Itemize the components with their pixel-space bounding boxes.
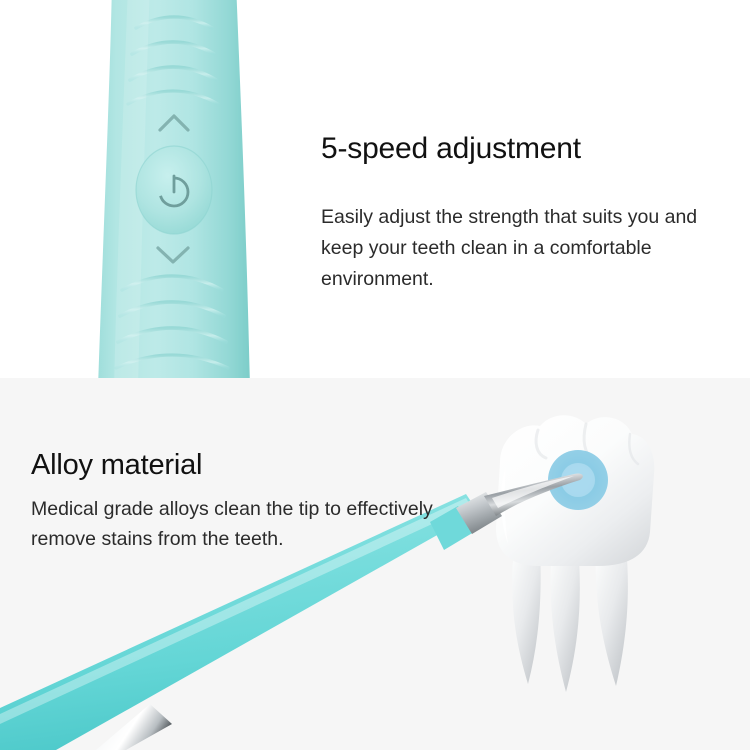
dental-scaler-handle	[84, 0, 264, 378]
product-feature-page: 5-speed adjustment Easily adjust the str…	[0, 0, 750, 750]
panel-speed-adjustment: 5-speed adjustment Easily adjust the str…	[0, 0, 750, 378]
description-speed: Easily adjust the strength that suits yo…	[321, 202, 741, 295]
power-button[interactable]	[136, 146, 212, 234]
scaler-blade	[484, 473, 583, 516]
page-title-alloy: Alloy material	[31, 449, 202, 482]
description-alloy: Medical grade alloys clean the tip to ef…	[31, 494, 461, 554]
page-title-speed: 5-speed adjustment	[321, 132, 581, 166]
